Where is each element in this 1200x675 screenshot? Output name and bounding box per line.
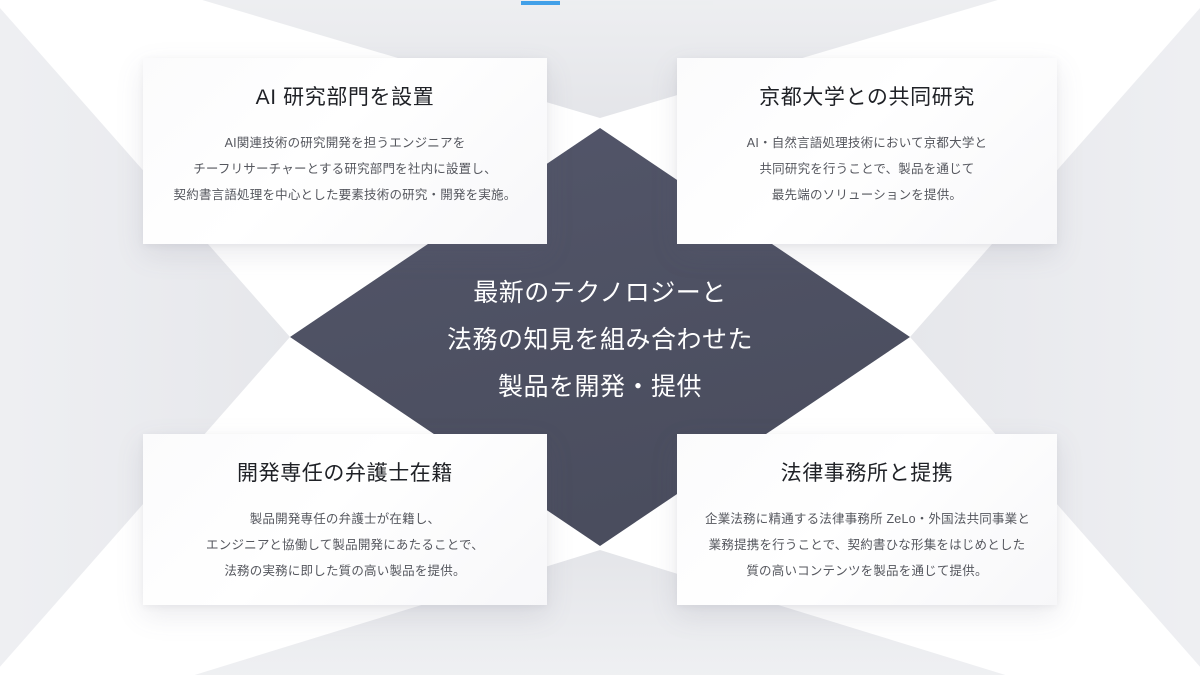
feature-card-ai-research-division[interactable]: AI 研究部門を設置 AI関連技術の研究開発を担うエンジニアを チーフリサーチャ… xyxy=(143,58,547,244)
card-title: 京都大学との共同研究 xyxy=(705,84,1029,112)
card-body-line: 最先端のソリューションを提供。 xyxy=(705,182,1029,208)
center-statement-line-1: 最新のテクノロジーと xyxy=(380,270,820,317)
page-progress-track[interactable] xyxy=(521,1,713,5)
card-body-line: 契約書言語処理を中心とした要素技術の研究・開発を実施。 xyxy=(171,182,519,208)
card-body-line: 共同研究を行うことで、製品を通じて xyxy=(705,156,1029,182)
card-title: 開発専任の弁護士在籍 xyxy=(171,460,519,488)
card-body-line: AI・自然言語処理技術において京都大学と xyxy=(705,130,1029,156)
center-statement-line-2: 法務の知見を組み合わせた xyxy=(380,317,820,364)
card-body-line: チーフリサーチャーとする研究部門を社内に設置し、 xyxy=(171,156,519,182)
center-statement: 最新のテクノロジーと 法務の知見を組み合わせた 製品を開発・提供 xyxy=(380,270,820,411)
center-statement-line-3: 製品を開発・提供 xyxy=(380,364,820,411)
feature-card-law-firm-partnership[interactable]: 法律事務所と提携 企業法務に精通する法律事務所 ZeLo・外国法共同事業と 業務… xyxy=(677,434,1057,605)
feature-card-kyoto-university-joint-research[interactable]: 京都大学との共同研究 AI・自然言語処理技術において京都大学と 共同研究を行うこ… xyxy=(677,58,1057,244)
slide-canvas: 最新のテクノロジーと 法務の知見を組み合わせた 製品を開発・提供 AI 研究部門… xyxy=(0,0,1200,675)
page-progress-fill xyxy=(521,1,560,5)
card-body-line: 企業法務に精通する法律事務所 ZeLo・外国法共同事業と xyxy=(705,506,1029,532)
card-body-line: エンジニアと協働して製品開発にあたることで、 xyxy=(171,532,519,558)
card-body-line: 質の高いコンテンツを製品を通じて提供。 xyxy=(705,558,1029,584)
card-body-line: 製品開発専任の弁護士が在籍し、 xyxy=(171,506,519,532)
card-body-line: AI関連技術の研究開発を担うエンジニアを xyxy=(171,130,519,156)
card-title: AI 研究部門を設置 xyxy=(171,84,519,112)
card-body-line: 法務の実務に即した質の高い製品を提供。 xyxy=(171,558,519,584)
feature-card-dedicated-development-lawyer[interactable]: 開発専任の弁護士在籍 製品開発専任の弁護士が在籍し、 エンジニアと協働して製品開… xyxy=(143,434,547,605)
card-title: 法律事務所と提携 xyxy=(705,460,1029,488)
card-body-line: 業務提携を行うことで、契約書ひな形集をはじめとした xyxy=(705,532,1029,558)
